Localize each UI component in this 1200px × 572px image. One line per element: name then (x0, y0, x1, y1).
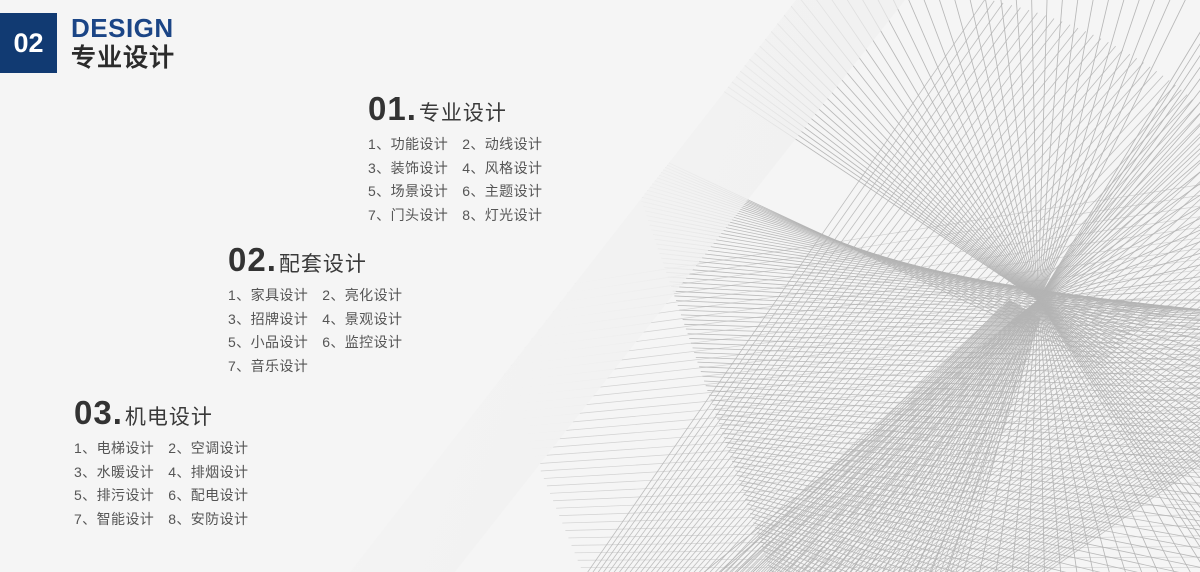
list-item: 3、装饰设计 (368, 157, 448, 181)
section-number-badge: 02 (0, 13, 57, 73)
list-item: 5、排污设计 (74, 484, 154, 508)
list-item: 4、风格设计 (462, 157, 542, 181)
section-01-item-list: 1、功能设计 2、动线设计 3、装饰设计 4、风格设计 5、场景设计 6、主题设… (368, 133, 542, 227)
content-section-02: 02. 配套设计 1、家具设计 2、亮化设计 3、招牌设计 4、景观设计 5、小… (228, 243, 402, 378)
list-item: 2、动线设计 (462, 133, 542, 157)
list-item: 7、智能设计 (74, 508, 154, 532)
slide-canvas: 02 DESIGN 专业设计 01. 专业设计 1、功能设计 2、动线设计 3、… (0, 0, 1200, 572)
content-section-03: 03. 机电设计 1、电梯设计 2、空调设计 3、水暖设计 4、排烟设计 5、排… (74, 396, 248, 531)
page-title-chinese: 专业设计 (71, 45, 175, 71)
content-section-01: 01. 专业设计 1、功能设计 2、动线设计 3、装饰设计 4、风格设计 5、场… (368, 92, 542, 227)
list-item: 1、功能设计 (368, 133, 448, 157)
section-01-title: 专业设计 (419, 103, 507, 124)
section-03-number: 03. (74, 396, 123, 429)
section-03-title: 机电设计 (125, 407, 213, 428)
list-item: 2、亮化设计 (322, 284, 402, 308)
list-item: 5、场景设计 (368, 180, 448, 204)
list-item: 6、配电设计 (168, 484, 248, 508)
list-item: 8、灯光设计 (462, 204, 542, 228)
section-01-heading: 01. 专业设计 (368, 92, 542, 125)
list-item: 2、空调设计 (168, 437, 248, 461)
section-02-number: 02. (228, 243, 277, 276)
list-item: 6、监控设计 (322, 331, 402, 355)
section-02-item-list: 1、家具设计 2、亮化设计 3、招牌设计 4、景观设计 5、小品设计 6、监控设… (228, 284, 402, 378)
list-item: 7、门头设计 (368, 204, 448, 228)
page-title-english: DESIGN (71, 15, 175, 42)
list-item: 4、景观设计 (322, 308, 402, 332)
section-03-heading: 03. 机电设计 (74, 396, 248, 429)
list-item: 3、水暖设计 (74, 461, 154, 485)
list-item: 1、电梯设计 (74, 437, 154, 461)
list-item: 4、排烟设计 (168, 461, 248, 485)
list-item: 8、安防设计 (168, 508, 248, 532)
header-title-group: DESIGN 专业设计 (71, 13, 175, 73)
section-01-number: 01. (368, 92, 417, 125)
list-item: 7、音乐设计 (228, 355, 308, 379)
list-item: 5、小品设计 (228, 331, 308, 355)
list-item: 3、招牌设计 (228, 308, 308, 332)
section-02-title: 配套设计 (279, 254, 367, 275)
section-02-heading: 02. 配套设计 (228, 243, 402, 276)
slide-header: 02 DESIGN 专业设计 (0, 13, 175, 73)
list-item: 1、家具设计 (228, 284, 308, 308)
section-03-item-list: 1、电梯设计 2、空调设计 3、水暖设计 4、排烟设计 5、排污设计 6、配电设… (74, 437, 248, 531)
list-item: 6、主题设计 (462, 180, 542, 204)
